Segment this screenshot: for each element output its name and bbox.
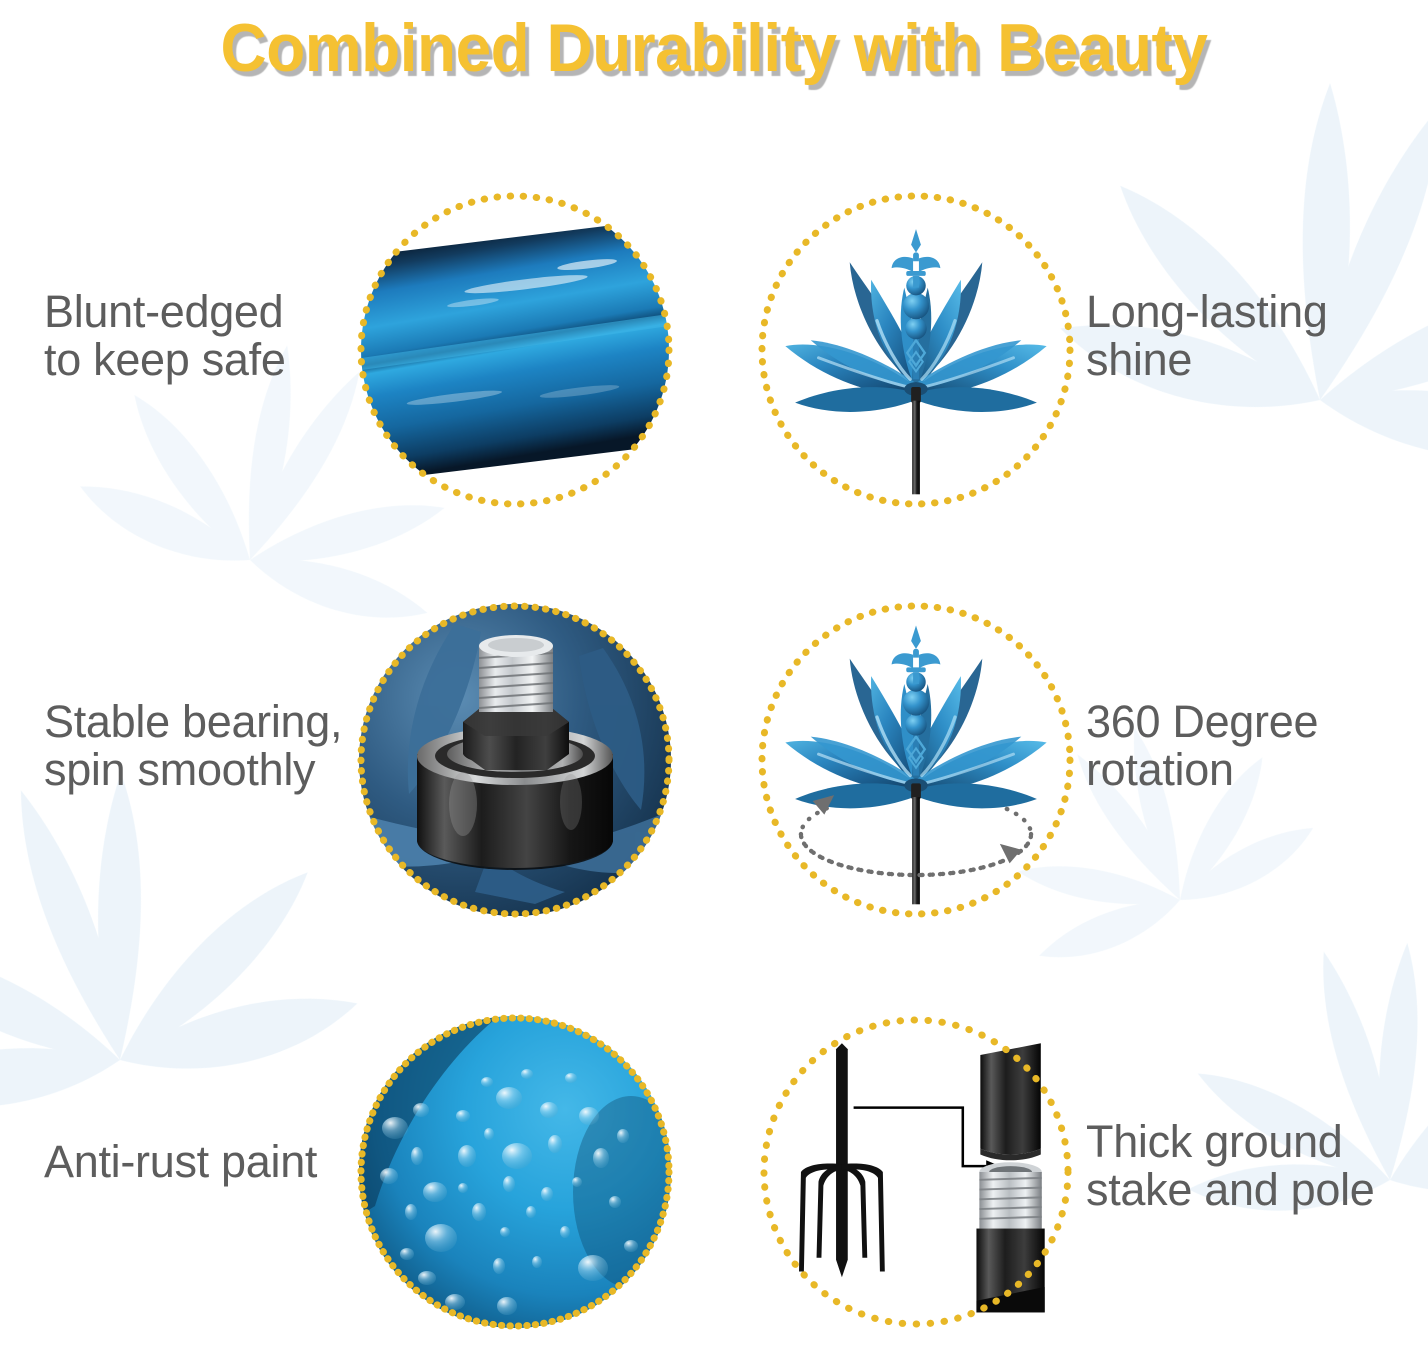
feature-label-360-rotation: 360 Degree rotation (1086, 698, 1416, 794)
feature-media-long-lasting-shine (756, 190, 1076, 510)
blade-edge-photo (359, 194, 671, 506)
feature-360-rotation: 360 Degree rotation (714, 578, 1428, 946)
wind-spinner-rotation-illustration (760, 604, 1072, 916)
feature-media-blunt-edged (355, 190, 675, 510)
title-bar: Combined Durability with Beauty (0, 0, 1428, 96)
feature-row-3: Anti-rust paint (0, 990, 1428, 1358)
ground-stake (799, 1043, 885, 1277)
feature-row-1: Blunt-edged to keep safe (0, 168, 1428, 536)
feature-media-360-rotation (756, 600, 1076, 920)
feature-label-thick-ground-stake: Thick ground stake and pole (1086, 1118, 1416, 1214)
stake-and-pole-illustration (760, 1016, 1072, 1328)
feature-stable-bearing: Stable bearing, spin smoothly (0, 578, 714, 946)
page-title: Combined Durability with Beauty (221, 14, 1208, 82)
callout-line (854, 1108, 987, 1167)
feature-media-stable-bearing (355, 600, 675, 920)
water-droplets-photo (359, 1016, 671, 1328)
feature-thick-ground-stake: Thick ground stake and pole (714, 990, 1428, 1358)
feature-label-blunt-edged: Blunt-edged to keep safe (44, 288, 384, 384)
pole-upper-section (980, 1043, 1040, 1160)
feature-label-anti-rust-paint: Anti-rust paint (44, 1138, 384, 1186)
feature-row-2: Stable bearing, spin smoothly (0, 578, 1428, 946)
feature-anti-rust-paint: Anti-rust paint (0, 990, 714, 1358)
feature-label-stable-bearing: Stable bearing, spin smoothly (44, 698, 384, 794)
bearing-photo (359, 604, 671, 916)
feature-long-lasting-shine: Long-lasting shine (714, 168, 1428, 536)
feature-media-thick-ground-stake (756, 1012, 1076, 1332)
wind-spinner-illustration (760, 194, 1072, 506)
feature-blunt-edged: Blunt-edged to keep safe (0, 168, 714, 536)
pole-lower-section (976, 1162, 1044, 1312)
feature-media-anti-rust-paint (355, 1012, 675, 1332)
feature-label-long-lasting-shine: Long-lasting shine (1086, 288, 1416, 384)
